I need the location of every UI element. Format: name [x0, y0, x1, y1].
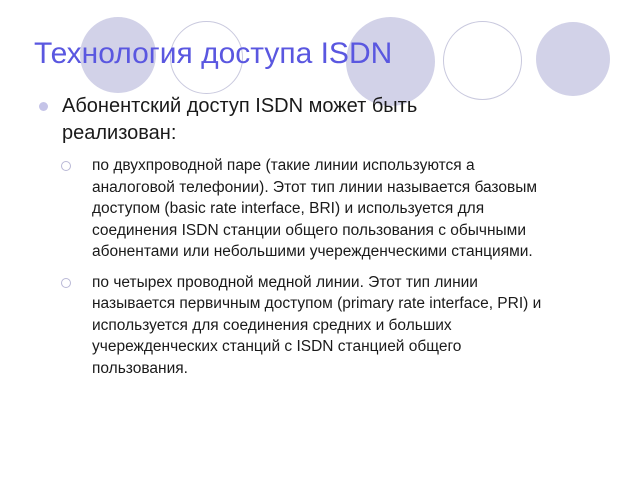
bullet-level2-item: по двухпроводной паре (такие линии испол… [30, 155, 630, 263]
slide-body: Абонентский доступ ISDN может быть реали… [30, 93, 630, 388]
bullet-level1: Абонентский доступ ISDN может быть реали… [30, 93, 630, 147]
hollow-circle-icon [61, 161, 71, 171]
filled-dot-icon [39, 102, 48, 111]
bullet-level2-text: по четырех проводной медной линии. Этот … [92, 272, 547, 380]
presentation-slide: Технология доступа ISDN Абонентский дост… [0, 0, 640, 480]
hollow-circle-icon [61, 278, 71, 288]
bullet-level2-item: по четырех проводной медной линии. Этот … [30, 272, 630, 380]
bullet-level2-text: по двухпроводной паре (такие линии испол… [92, 155, 547, 263]
slide-title: Технология доступа ISDN [34, 36, 614, 72]
sub-bullet-list: по двухпроводной паре (такие линии испол… [30, 155, 630, 379]
bullet-level1-text: Абонентский доступ ISDN может быть реали… [62, 93, 482, 147]
